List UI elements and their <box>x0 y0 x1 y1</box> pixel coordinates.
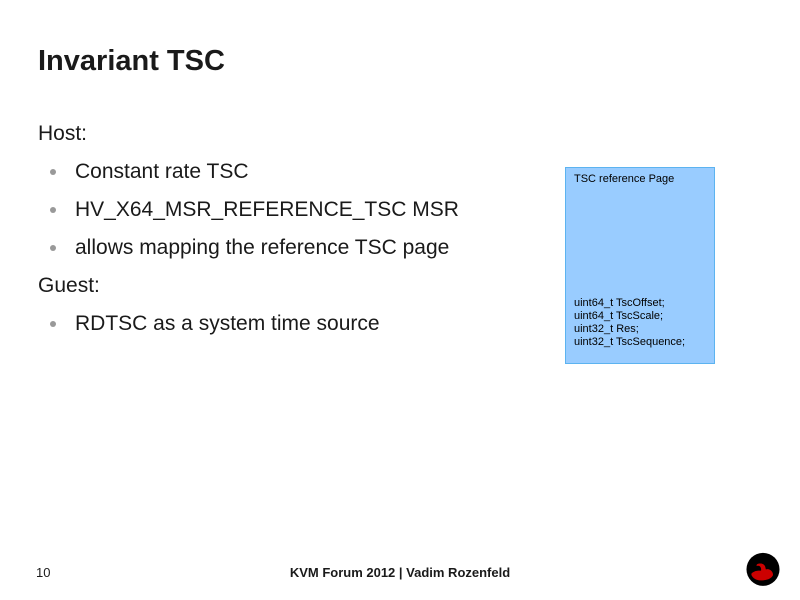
struct-field: uint32_t Res; <box>574 323 685 336</box>
slide: Invariant TSC Host: Constant rate TSC HV… <box>0 0 800 600</box>
body-line-text: Constant rate TSC <box>75 160 249 184</box>
footer-text: KVM Forum 2012 | Vadim Rozenfeld <box>0 565 800 580</box>
body-line-heading: Host: <box>38 115 538 153</box>
body-line-bullet: allows mapping the reference TSC page <box>38 229 538 267</box>
body-line-heading: Guest: <box>38 267 538 305</box>
bullet-dot-icon <box>50 321 56 327</box>
bullet-dot-icon <box>50 169 56 175</box>
tsc-reference-page-box: TSC reference Page uint64_t TscOffset; u… <box>565 167 715 364</box>
body-line-text: Guest: <box>38 274 100 298</box>
body-line-text: allows mapping the reference TSC page <box>75 236 449 260</box>
page-title: Invariant TSC <box>38 45 225 78</box>
tsc-reference-page-title: TSC reference Page <box>574 173 674 185</box>
body-line-text: Host: <box>38 122 87 146</box>
bullet-dot-icon <box>50 245 56 251</box>
slide-body: Host: Constant rate TSC HV_X64_MSR_REFER… <box>38 115 538 343</box>
struct-field: uint64_t TscOffset; <box>574 297 685 310</box>
red-hat-logo <box>742 552 784 590</box>
body-line-text: HV_X64_MSR_REFERENCE_TSC MSR <box>75 198 459 222</box>
body-line-bullet: RDTSC as a system time source <box>38 305 538 343</box>
struct-field: uint32_t TscSequence; <box>574 336 685 349</box>
tsc-reference-page-fields: uint64_t TscOffset; uint64_t TscScale; u… <box>574 297 685 349</box>
struct-field: uint64_t TscScale; <box>574 310 685 323</box>
body-line-bullet: Constant rate TSC <box>38 153 538 191</box>
bullet-dot-icon <box>50 207 56 213</box>
body-line-text: RDTSC as a system time source <box>75 312 380 336</box>
body-line-bullet: HV_X64_MSR_REFERENCE_TSC MSR <box>38 191 538 229</box>
